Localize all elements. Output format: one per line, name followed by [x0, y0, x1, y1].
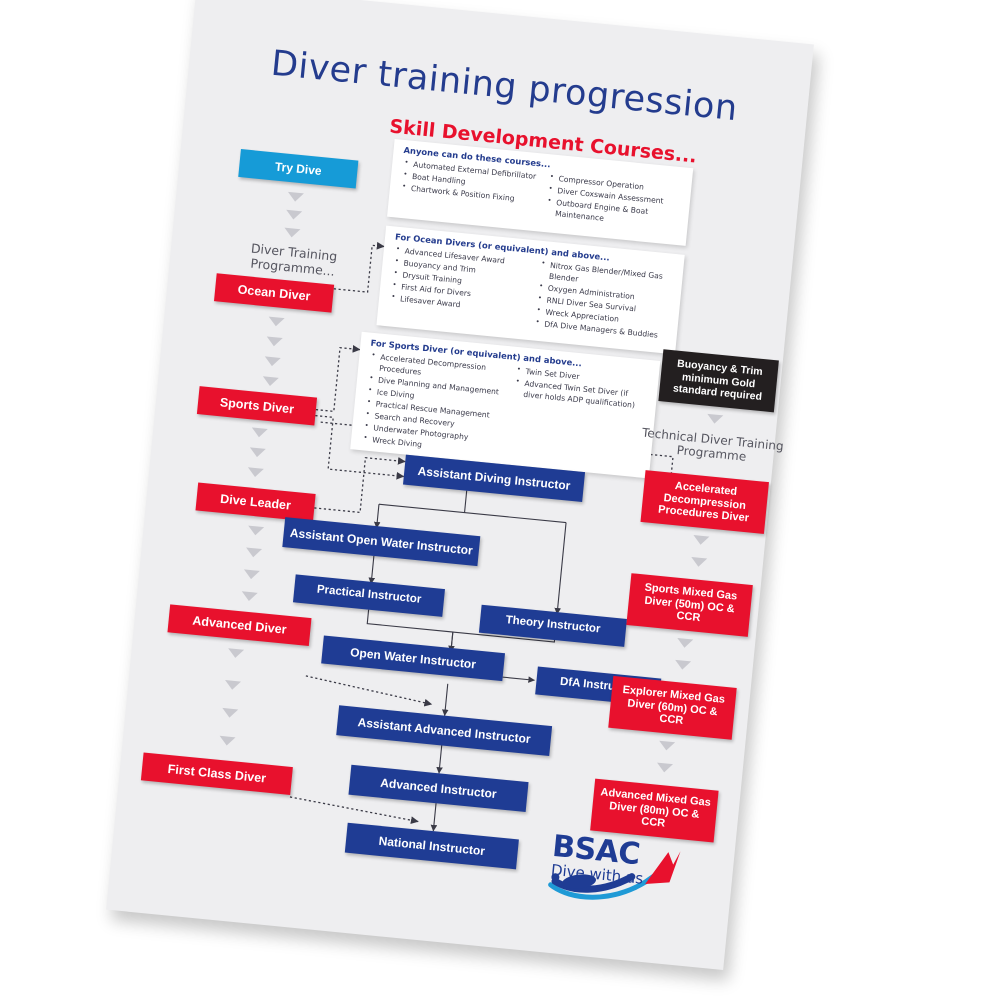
chevron-arrow [249, 447, 266, 458]
node-label: Dive Leader [220, 491, 292, 513]
bsac-logo: BSAC Dive with us [539, 822, 696, 916]
chevron-arrow [658, 741, 675, 752]
node-label: Buoyancy & Trim minimum Gold standard re… [663, 357, 774, 404]
chevron-arrow [284, 228, 301, 239]
node-label: First Class Diver [167, 762, 267, 786]
chevron-arrow [245, 547, 262, 558]
chevron-arrow [268, 317, 285, 328]
chevron-arrow [243, 569, 260, 580]
node-label: Explorer Mixed Gas Diver (60m) OC & CCR [613, 683, 732, 733]
node-label: National Instructor [378, 834, 486, 858]
chevron-arrow [247, 526, 264, 537]
node-label: Accelerated Decompression Procedures Div… [645, 477, 764, 527]
node-label: Ocean Diver [237, 282, 311, 304]
chevron-arrow [674, 660, 691, 671]
poster-sheet: Diver training progression Skill Develop… [106, 0, 814, 970]
node-label: Try Dive [274, 159, 322, 178]
chevron-arrow [221, 708, 238, 719]
panel-list-right: Compressor Operation Diver Coxswain Asse… [544, 172, 684, 231]
node-label: Practical Instructor [316, 584, 422, 608]
chevron-arrow [656, 763, 673, 774]
panel-list-left: Advanced Lifesaver Award Buoyancy and Tr… [389, 244, 530, 316]
chevron-arrow [676, 638, 693, 649]
chevron-arrow [264, 356, 281, 367]
chevron-arrow [693, 535, 710, 546]
chevron-arrow [227, 648, 244, 659]
chevron-arrow [224, 680, 241, 691]
node-label: Sports Diver [219, 395, 294, 417]
panel-list-left: Accelerated Decompression Procedures Div… [361, 351, 506, 458]
chevron-arrow [241, 591, 258, 602]
screenshot-canvas: Diver training progression Skill Develop… [0, 0, 1000, 1000]
node-label: Open Water Instructor [350, 645, 477, 671]
node-label: Advanced Diver [192, 613, 287, 637]
chevron-arrow [262, 376, 279, 387]
panel-list-right: Nitrox Gas Blender/Mixed Gas Blender Oxy… [533, 259, 675, 342]
node-buoyancy-trim-note: Buoyancy & Trim minimum Gold standard re… [658, 349, 779, 412]
node-label: Theory Instructor [505, 614, 601, 637]
chevron-arrow [266, 336, 283, 347]
chevron-arrow [287, 192, 304, 203]
node-label: Advanced Instructor [380, 776, 498, 801]
node-label: Sports Mixed Gas Diver (50m) OC & CCR [631, 580, 748, 630]
chevron-arrow [247, 467, 264, 478]
chevron-arrow [706, 414, 723, 425]
chevron-arrow [690, 557, 707, 568]
chevron-arrow [251, 427, 268, 438]
chevron-arrow [285, 210, 302, 221]
chevron-arrow [219, 736, 236, 747]
